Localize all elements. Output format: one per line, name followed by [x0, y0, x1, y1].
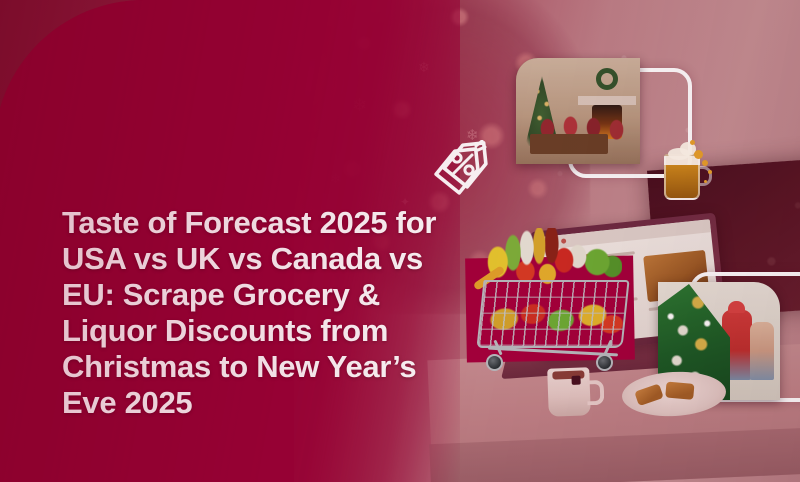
cart-wheel	[596, 354, 613, 371]
mug-glass	[664, 154, 700, 200]
beer-splash	[690, 140, 695, 145]
beer-splash	[694, 150, 703, 159]
beer-splash	[708, 170, 712, 174]
beer-splash	[702, 160, 708, 166]
discount-tag-icon	[432, 140, 492, 200]
child-figure	[750, 322, 774, 380]
family-fireplace-photo	[516, 58, 640, 164]
promo-banner: ❄ ❄ ❄ ❄ ✦ ✦	[0, 0, 800, 482]
gingerbread-cookie	[634, 383, 663, 406]
gingerbread-cookie	[665, 382, 694, 400]
mug-handle	[698, 166, 712, 186]
page-title: Taste of Forecast 2025 for USA vs UK vs …	[62, 205, 462, 421]
beer-mug	[660, 140, 716, 204]
cart-basket	[476, 280, 629, 348]
photo-tint	[516, 58, 640, 164]
grocery-cart	[468, 228, 632, 386]
cart-wheel	[486, 354, 503, 371]
beer-splash	[704, 180, 707, 183]
